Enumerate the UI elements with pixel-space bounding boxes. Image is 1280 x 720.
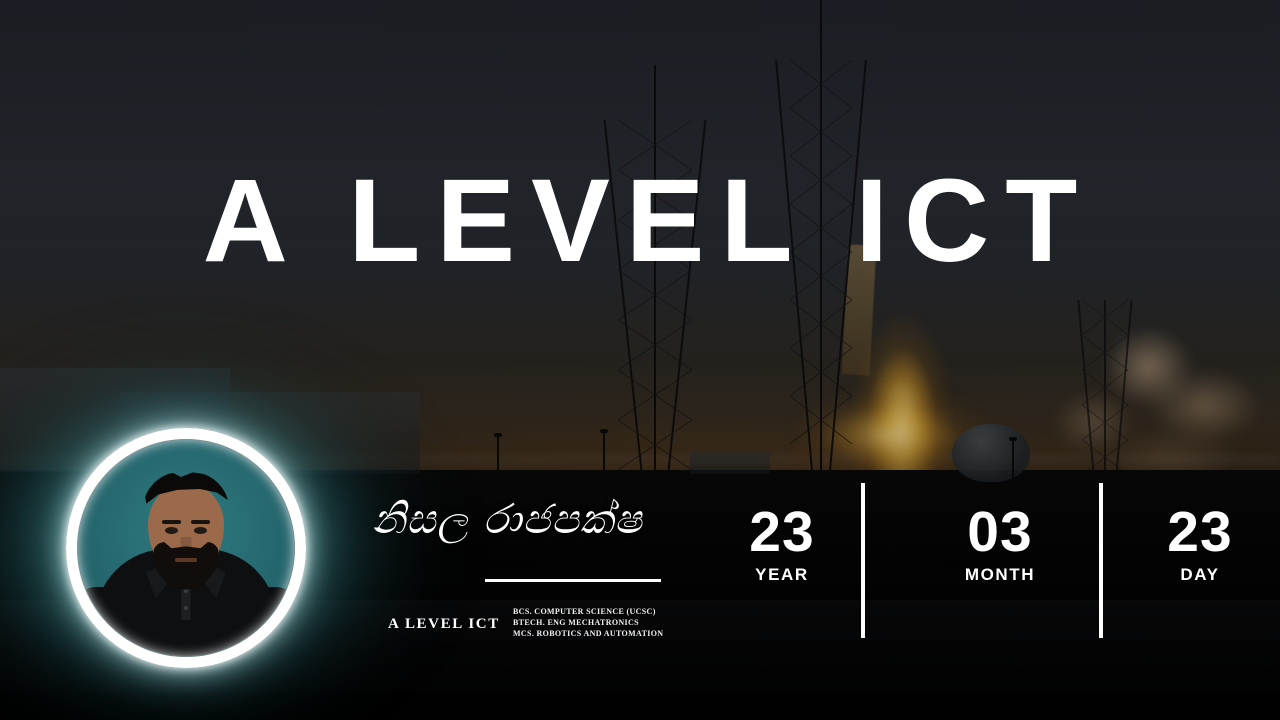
countdown-label: DAY — [1120, 565, 1280, 585]
countdown-unit-month: 03 MONTH — [920, 503, 1080, 585]
lamp-post — [1012, 440, 1014, 480]
countdown-timer: 23 YEAR 03 MONTH 23 DAY — [700, 483, 1260, 641]
countdown-value: 23 — [702, 503, 862, 561]
lamp-post — [497, 436, 499, 478]
credential-line: BCS. COMPUTER SCIENCE (UCSC) — [513, 606, 663, 617]
countdown-divider — [1099, 483, 1103, 638]
page-title: A LEVEL ICT — [0, 162, 1280, 280]
video-thumbnail-canvas: A LEVEL ICT නිසල රාජපක්ෂ A LEVEL ICT BCS… — [0, 0, 1280, 720]
lattice-tower-icon — [1082, 300, 1128, 475]
lamp-post — [603, 432, 605, 478]
countdown-value: 03 — [920, 503, 1080, 561]
launch-smoke-cloud — [1020, 315, 1280, 490]
person-mouth — [175, 558, 197, 562]
countdown-value: 23 — [1120, 503, 1280, 561]
credentials-list: BCS. COMPUTER SCIENCE (UCSC) BTECH. ENG … — [513, 606, 663, 640]
credential-line: MCS. ROBOTICS AND AUTOMATION — [513, 628, 663, 639]
brand-label: A LEVEL ICT — [388, 616, 500, 633]
countdown-label: MONTH — [920, 565, 1080, 585]
credential-line: BTECH. ENG MECHATRONICS — [513, 617, 663, 628]
signature-underline — [485, 579, 661, 582]
signature-block: නිසල රාජපක්ෂ A LEVEL ICT BCS. COMPUTER S… — [372, 498, 672, 648]
avatar-glow-ring — [66, 428, 306, 668]
presenter-name-sinhala: නිසල රාජපක්ෂ — [372, 498, 672, 541]
storage-tank — [952, 424, 1030, 482]
facility-building — [690, 452, 770, 474]
avatar — [66, 428, 306, 668]
countdown-unit-day: 23 DAY — [1120, 503, 1280, 585]
countdown-unit-year: 23 YEAR — [702, 503, 862, 585]
countdown-label: YEAR — [702, 565, 862, 585]
